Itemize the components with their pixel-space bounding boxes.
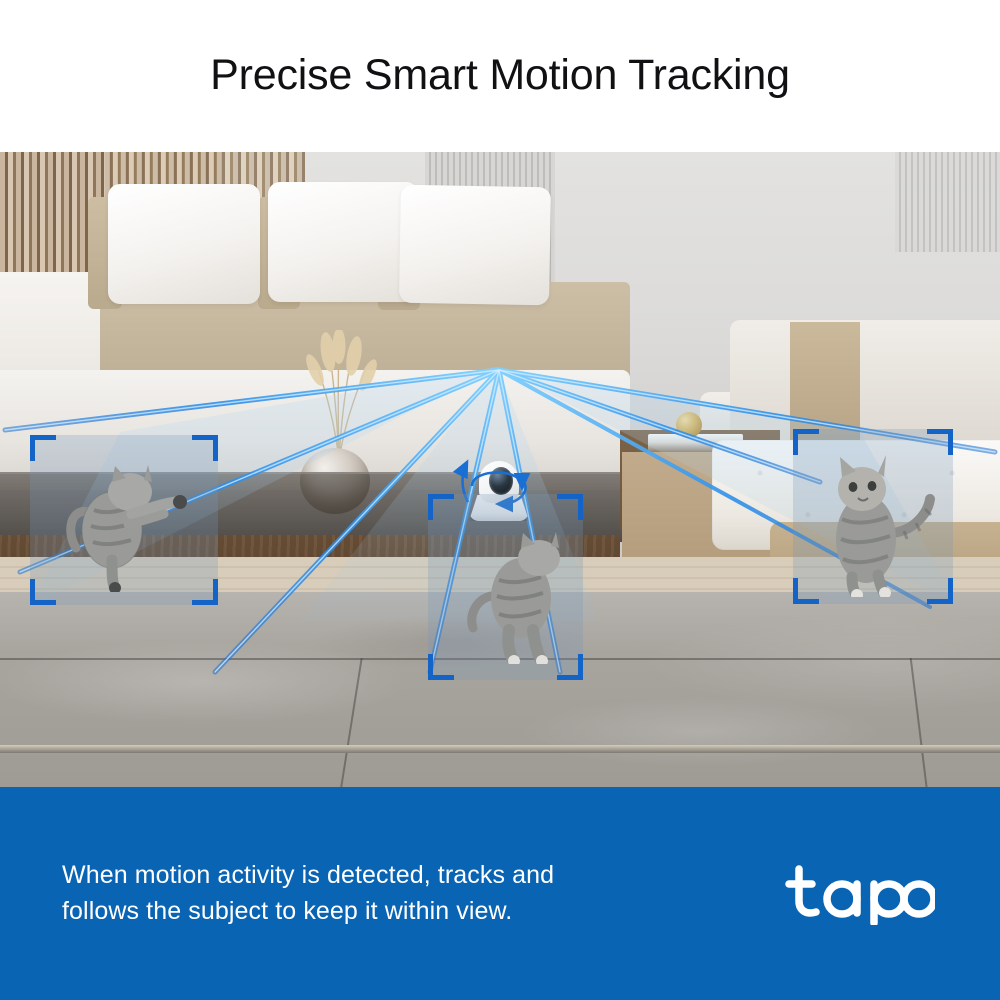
- footer-caption-line-1: When motion activity is detected, tracks…: [62, 858, 554, 894]
- page-title: Precise Smart Motion Tracking: [210, 52, 790, 99]
- cat-right: [808, 447, 948, 597]
- footer-caption: When motion activity is detected, tracks…: [62, 858, 554, 929]
- bracket-bottom-left-icon: [428, 654, 454, 680]
- bracket-bottom-right-icon: [192, 579, 218, 605]
- bracket-top-left-icon: [428, 494, 454, 520]
- header-band: Precise Smart Motion Tracking: [0, 0, 1000, 152]
- bracket-top-right-icon: [557, 494, 583, 520]
- bracket-bottom-left-icon: [30, 579, 56, 605]
- tapo-brand-logo: [785, 863, 935, 925]
- bracket-top-right-icon: [192, 435, 218, 461]
- bracket-top-left-icon: [30, 435, 56, 461]
- footer-banner: When motion activity is detected, tracks…: [0, 787, 1000, 1000]
- room-scene-photo: [0, 152, 1000, 787]
- cat-left: [60, 452, 195, 592]
- footer-caption-line-2: follows the subject to keep it within vi…: [62, 894, 554, 930]
- cat-center: [455, 524, 585, 664]
- marketing-slide: Precise Smart Motion Tracking: [0, 0, 1000, 1000]
